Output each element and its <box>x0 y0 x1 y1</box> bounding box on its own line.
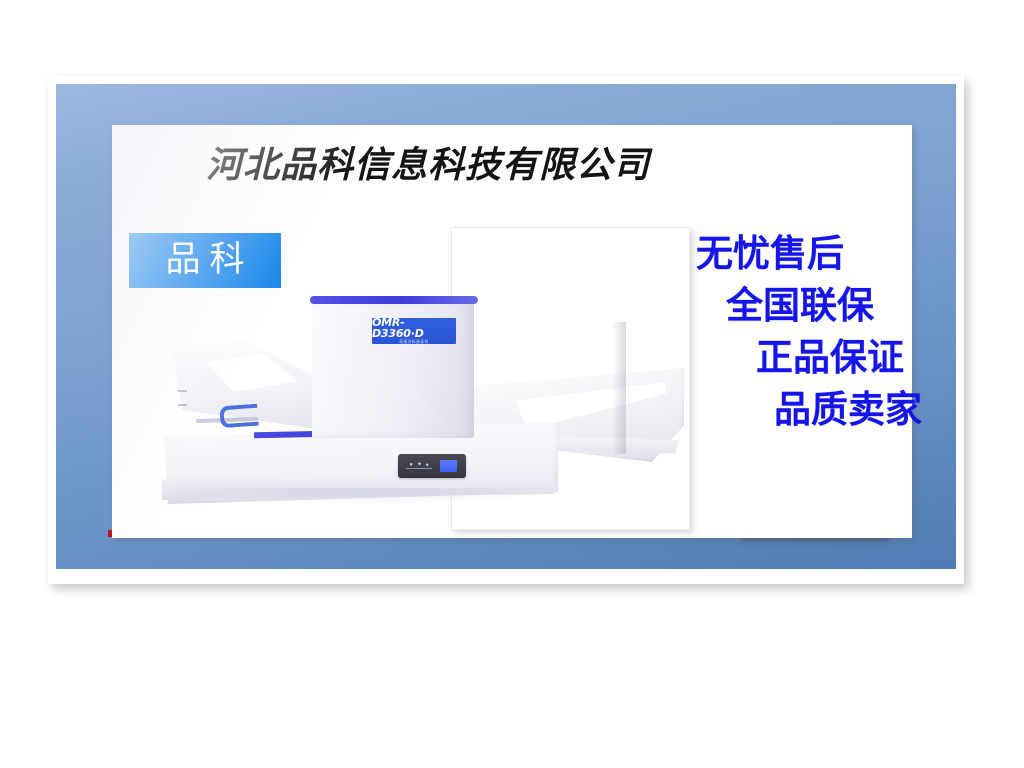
slogan-list: 无忧售后 全国联保 正品保证 品质卖家 <box>660 228 950 436</box>
brand-logo-label: 品科 <box>156 243 253 278</box>
device-power-button <box>440 460 457 472</box>
brand-logo-badge: 品科 <box>129 233 281 288</box>
slogan-line-3: 正品保证 <box>756 332 950 384</box>
device-model-sublabel: 高速光标阅读机 <box>399 341 428 344</box>
device-cabinet-shading <box>612 322 626 454</box>
device-ground-shadow <box>166 488 566 504</box>
device-control-panel <box>398 454 466 478</box>
slogan-line-1: 无忧售后 <box>696 228 950 280</box>
device-model-badge: OMR-D3360·D 高速光标阅读机 <box>372 318 456 344</box>
device-feed-tick-lower <box>178 404 187 406</box>
device-indicator-lights <box>406 461 432 472</box>
omr-scanner-device: OMR-D3360·D 高速光标阅读机 <box>160 282 680 514</box>
device-paper-guide-hook <box>219 404 258 429</box>
slogan-line-2: 全国联保 <box>726 280 950 332</box>
device-cabinet-top-trim <box>310 296 478 304</box>
slogan-line-4: 品质卖家 <box>774 384 950 436</box>
company-title: 河北品科信息科技有限公司 <box>112 146 744 186</box>
device-feed-tick-upper <box>178 390 187 392</box>
poster-canvas: 河北品科信息科技有限公司 品科 OMR-D3360·D 高速光标阅读机 <box>0 0 1024 768</box>
device-model-label: OMR-D3360·D <box>372 318 456 339</box>
